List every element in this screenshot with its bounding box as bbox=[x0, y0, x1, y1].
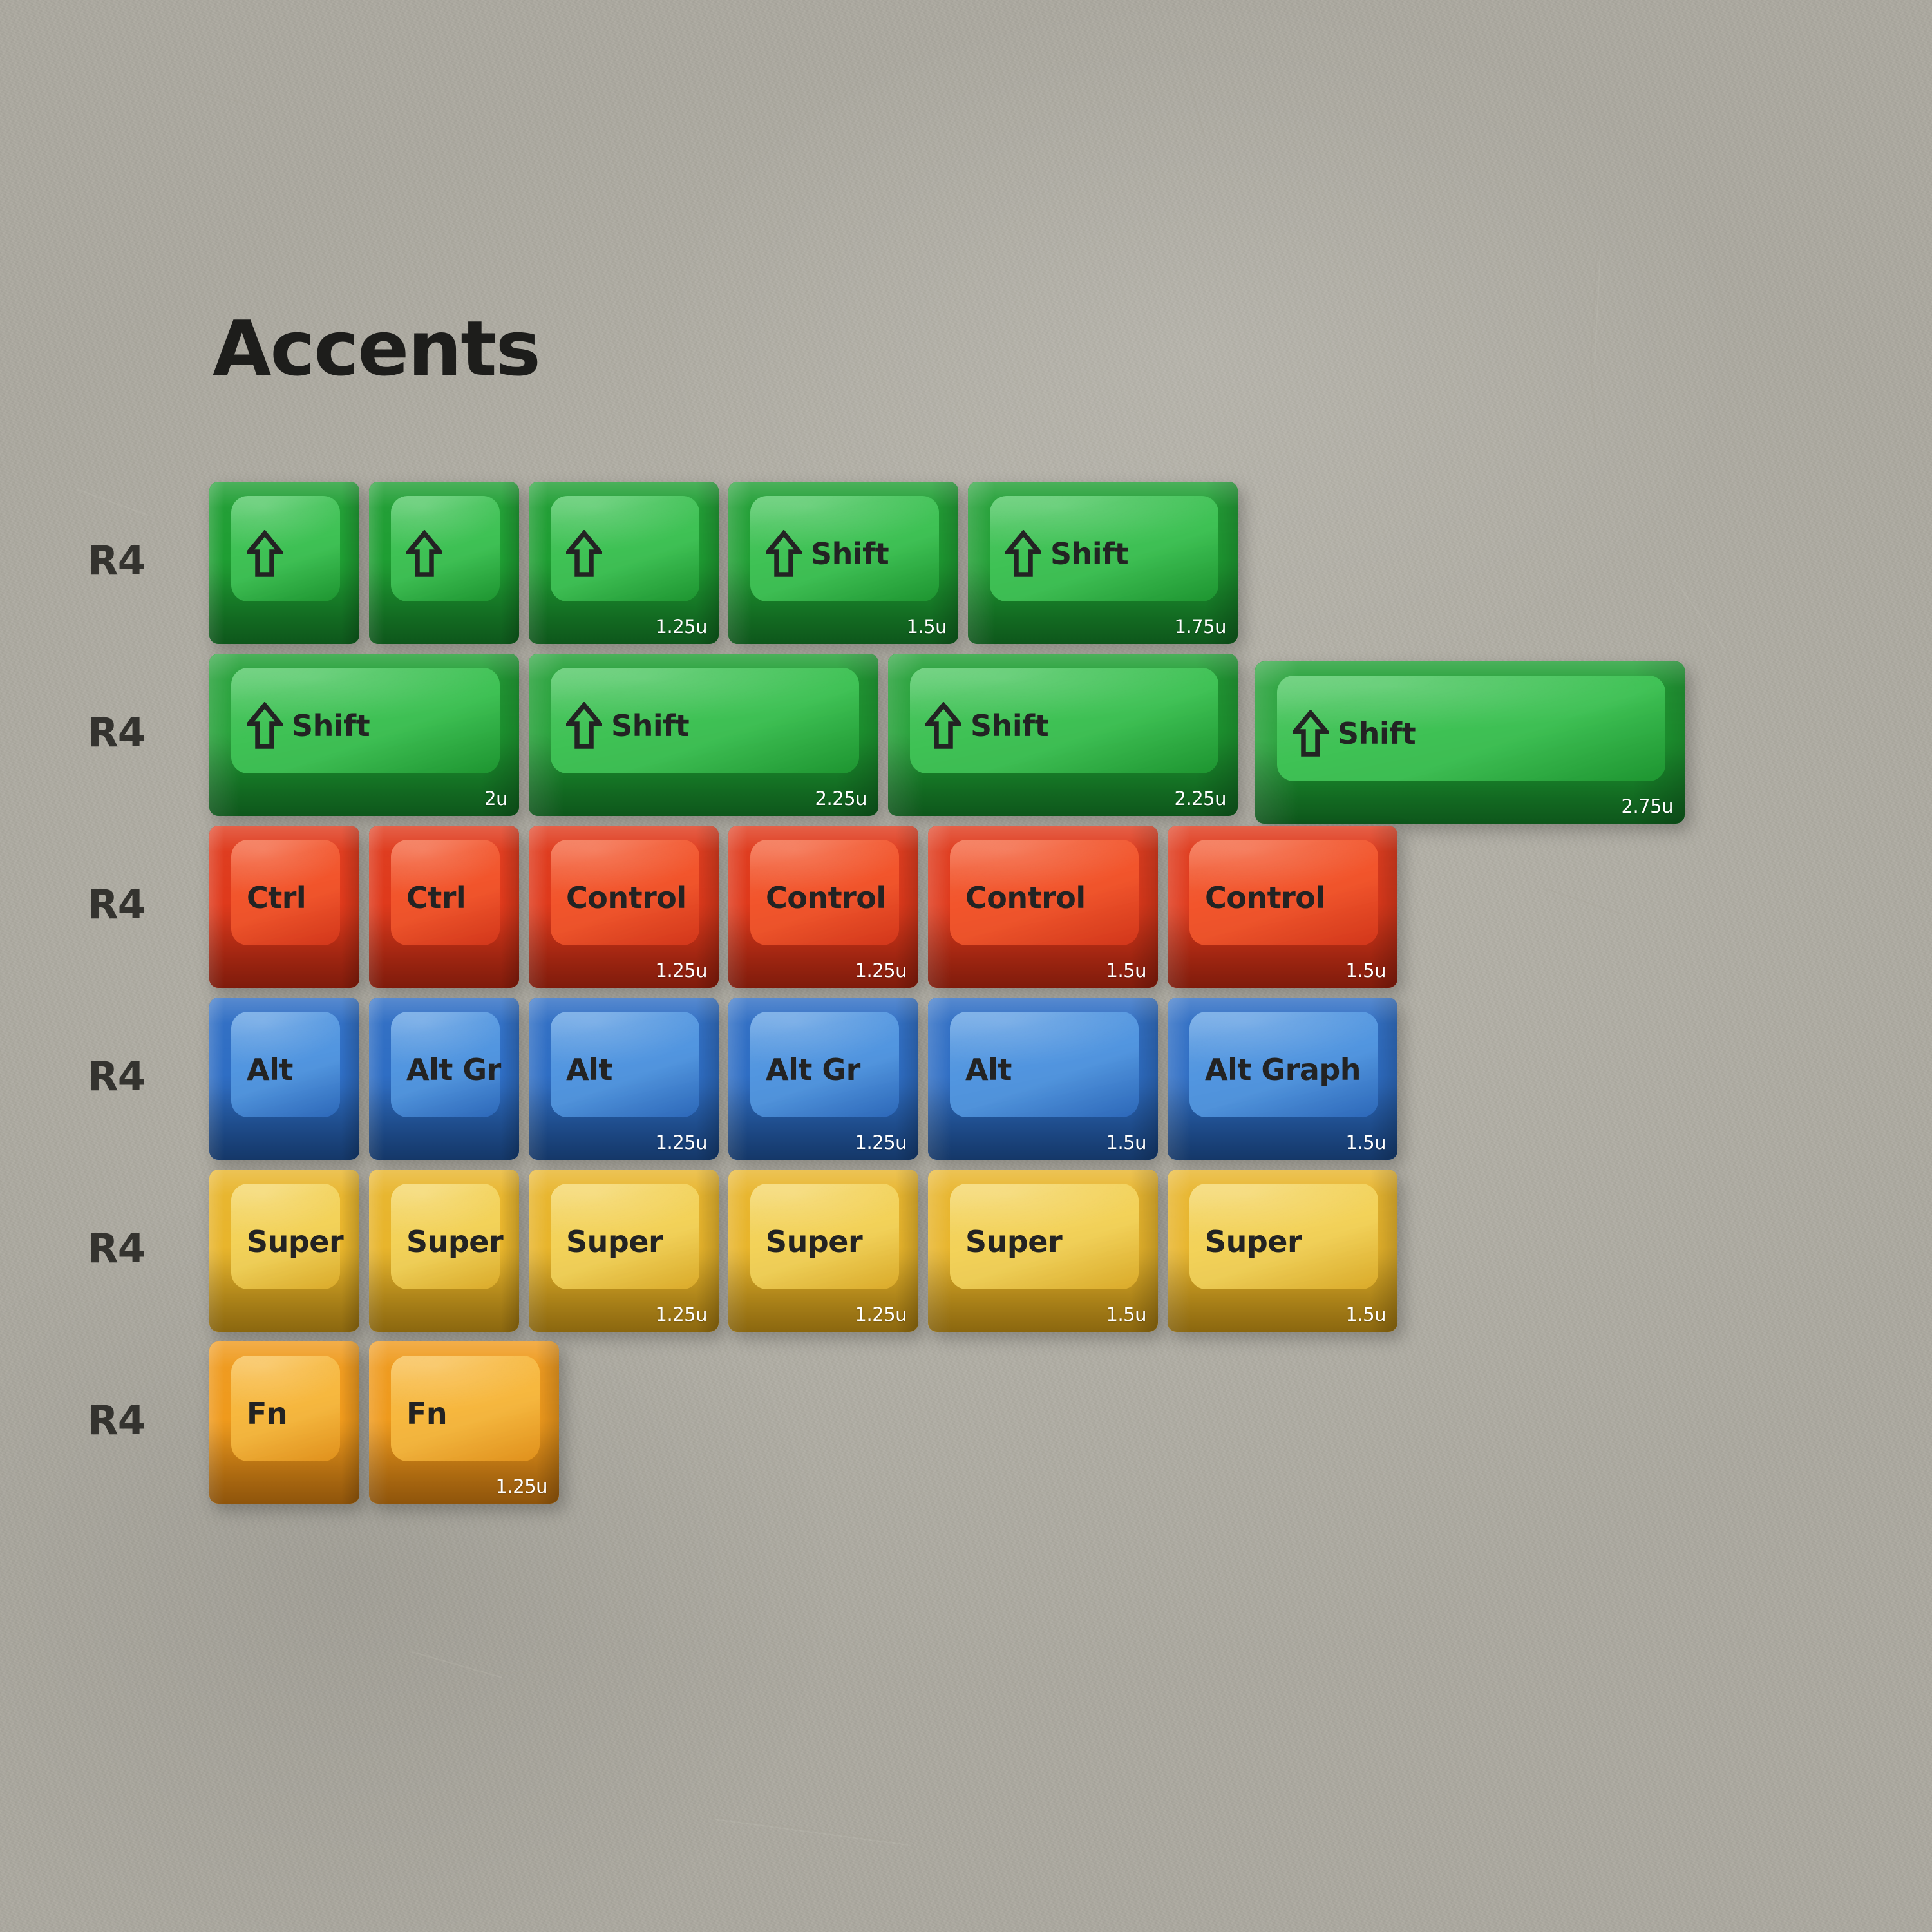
keycap-legend: Super bbox=[406, 1217, 503, 1266]
keycap-red-ctrl-1u[interactable]: Ctrl bbox=[369, 826, 519, 988]
keycap-legend: Shift bbox=[766, 529, 889, 578]
keycap-size-tag: 2u bbox=[484, 788, 507, 810]
keycap-size-tag: 1.25u bbox=[855, 960, 907, 981]
keycap-yellow-super-1.5u[interactable]: Super1.5u bbox=[1168, 1170, 1397, 1332]
keycap-green-shift-arrow-1u[interactable] bbox=[209, 482, 359, 644]
keycap-size-tag: 1.25u bbox=[656, 616, 707, 638]
keycap-legend: Control bbox=[566, 873, 687, 922]
keycap-green-shift-1.75u[interactable]: Shift1.75u bbox=[968, 482, 1238, 644]
keycap-size-tag: 1.75u bbox=[1175, 616, 1226, 638]
keycap-legend-text: Alt Gr bbox=[766, 1052, 860, 1087]
keycap-legend-text: Super bbox=[1205, 1224, 1302, 1259]
keycap-green-shift-2.25u[interactable]: Shift2.25u bbox=[888, 654, 1238, 816]
keycap-legend: Alt Gr bbox=[406, 1045, 501, 1094]
keycap-legend-text: Control bbox=[965, 880, 1086, 915]
keycap-red-ctrl-1u[interactable]: Ctrl bbox=[209, 826, 359, 988]
shift-arrow-icon bbox=[925, 702, 961, 750]
keycap-orange-fn-1.25u[interactable]: Fn1.25u bbox=[369, 1341, 559, 1504]
keycap-blue-alt-1u[interactable]: Alt bbox=[209, 998, 359, 1160]
keycap-legend-text: Ctrl bbox=[247, 880, 306, 915]
keycap-legend bbox=[566, 529, 611, 578]
keycap-size-tag: 1.25u bbox=[496, 1475, 547, 1497]
keycap-legend: Shift bbox=[247, 701, 370, 750]
keycap-legend-text: Super bbox=[406, 1224, 503, 1259]
keycap-size-tag: 2.75u bbox=[1622, 795, 1673, 817]
keycap-legend-text: Fn bbox=[406, 1396, 447, 1431]
keycap-size-tag: 1.5u bbox=[1346, 1132, 1387, 1153]
row-label-r4-4: R4 bbox=[88, 1225, 204, 1272]
keycap-legend: Super bbox=[566, 1217, 663, 1266]
keycap-legend: Ctrl bbox=[406, 873, 466, 922]
keycap-legend-text: Shift bbox=[971, 708, 1048, 743]
keycap-yellow-super-1.25u[interactable]: Super1.25u bbox=[529, 1170, 719, 1332]
keycap-legend: Fn bbox=[406, 1389, 447, 1438]
keycap-blue-alt-graph-1.5u[interactable]: Alt Graph1.5u bbox=[1168, 998, 1397, 1160]
keycap-legend-text: Shift bbox=[1050, 536, 1128, 571]
keycap-legend: Super bbox=[965, 1217, 1062, 1266]
keycap-legend: Alt bbox=[965, 1045, 1012, 1094]
keycap-legend: Control bbox=[965, 873, 1086, 922]
keycap-size-tag: 1.25u bbox=[656, 960, 707, 981]
keycap-size-tag: 1.5u bbox=[1106, 1132, 1147, 1153]
keycap-legend: Super bbox=[247, 1217, 343, 1266]
row-label-r4-5: R4 bbox=[88, 1397, 204, 1444]
row-label-r4-2: R4 bbox=[88, 881, 204, 928]
keycap-legend bbox=[247, 529, 292, 578]
keycap-legend: Alt bbox=[566, 1045, 612, 1094]
keycap-legend: Super bbox=[766, 1217, 862, 1266]
keycap-legend: Shift bbox=[566, 701, 689, 750]
keycap-size-tag: 1.5u bbox=[907, 616, 947, 638]
keycap-legend-text: Control bbox=[1205, 880, 1325, 915]
keycap-yellow-super-1u[interactable]: Super bbox=[209, 1170, 359, 1332]
keycap-size-tag: 1.5u bbox=[1346, 1303, 1387, 1325]
keycap-green-shift-2u[interactable]: Shift2u bbox=[209, 654, 519, 816]
row-label-r4-3: R4 bbox=[88, 1053, 204, 1100]
keycap-legend: Alt bbox=[247, 1045, 293, 1094]
keycap-legend: Control bbox=[766, 873, 886, 922]
keycap-legend-text: Shift bbox=[1338, 716, 1416, 751]
row-label-r4-1: R4 bbox=[88, 709, 204, 756]
shift-arrow-icon bbox=[247, 530, 283, 578]
keycap-size-tag: 1.5u bbox=[1106, 1303, 1147, 1325]
shift-arrow-icon bbox=[566, 702, 602, 750]
keycap-legend-text: Shift bbox=[611, 708, 689, 743]
keycap-legend: Shift bbox=[1005, 529, 1128, 578]
keycap-size-tag: 2.25u bbox=[815, 788, 867, 810]
keycap-legend-text: Control bbox=[766, 880, 886, 915]
keycap-legend: Super bbox=[1205, 1217, 1302, 1266]
keycap-green-shift-arrow-1.25u[interactable]: 1.25u bbox=[529, 482, 719, 644]
keycap-legend-text: Alt bbox=[965, 1052, 1012, 1087]
keycap-blue-alt-gr-1.25u[interactable]: Alt Gr1.25u bbox=[728, 998, 918, 1160]
keycap-red-control-1.5u[interactable]: Control1.5u bbox=[1168, 826, 1397, 988]
shift-arrow-icon bbox=[406, 530, 442, 578]
shift-arrow-icon bbox=[1005, 530, 1041, 578]
keycap-legend-text: Super bbox=[766, 1224, 862, 1259]
keycap-yellow-super-1.25u[interactable]: Super1.25u bbox=[728, 1170, 918, 1332]
keycap-legend: Alt Graph bbox=[1205, 1045, 1361, 1094]
keycap-legend: Alt Gr bbox=[766, 1045, 860, 1094]
keycap-red-control-1.25u[interactable]: Control1.25u bbox=[529, 826, 719, 988]
keycap-legend-text: Super bbox=[965, 1224, 1062, 1259]
page-title: Accents bbox=[213, 304, 540, 393]
keycap-legend: Fn bbox=[247, 1389, 287, 1438]
keycap-red-control-1.5u[interactable]: Control1.5u bbox=[928, 826, 1158, 988]
keycap-green-shift-arrow-1u[interactable] bbox=[369, 482, 519, 644]
keycap-legend: Shift bbox=[1293, 709, 1416, 758]
keycap-red-control-1.25u[interactable]: Control1.25u bbox=[728, 826, 918, 988]
row-label-r4-0: R4 bbox=[88, 537, 204, 584]
keycap-legend-text: Ctrl bbox=[406, 880, 466, 915]
keycap-green-shift-2.75u[interactable]: Shift2.75u bbox=[1255, 661, 1685, 824]
keycap-legend bbox=[406, 529, 451, 578]
keycap-size-tag: 1.5u bbox=[1346, 960, 1387, 981]
keycap-size-tag: 1.25u bbox=[656, 1303, 707, 1325]
keycap-legend: Ctrl bbox=[247, 873, 306, 922]
keycap-legend-text: Alt bbox=[247, 1052, 293, 1087]
keycap-legend-text: Shift bbox=[811, 536, 889, 571]
keycap-legend-text: Alt Gr bbox=[406, 1052, 501, 1087]
shift-arrow-icon bbox=[247, 702, 283, 750]
keycap-size-tag: 1.25u bbox=[855, 1132, 907, 1153]
keycap-legend: Shift bbox=[925, 701, 1048, 750]
shift-arrow-icon bbox=[1293, 710, 1329, 757]
shift-arrow-icon bbox=[766, 530, 802, 578]
keycap-size-tag: 1.25u bbox=[855, 1303, 907, 1325]
shift-arrow-icon bbox=[566, 530, 602, 578]
keycap-green-shift-1.5u[interactable]: Shift1.5u bbox=[728, 482, 958, 644]
keycap-blue-alt-1.25u[interactable]: Alt1.25u bbox=[529, 998, 719, 1160]
keycap-blue-alt-gr-1u[interactable]: Alt Gr bbox=[369, 998, 519, 1160]
keycap-legend-text: Super bbox=[247, 1224, 343, 1259]
keycap-legend-text: Alt Graph bbox=[1205, 1052, 1361, 1087]
keycap-size-tag: 1.25u bbox=[656, 1132, 707, 1153]
keycap-size-tag: 1.5u bbox=[1106, 960, 1147, 981]
keycap-legend-text: Control bbox=[566, 880, 687, 915]
keycap-green-shift-2.25u[interactable]: Shift2.25u bbox=[529, 654, 878, 816]
keycap-orange-fn-1u[interactable]: Fn bbox=[209, 1341, 359, 1504]
keycap-yellow-super-1u[interactable]: Super bbox=[369, 1170, 519, 1332]
keycap-legend-text: Alt bbox=[566, 1052, 612, 1087]
keycap-legend-text: Super bbox=[566, 1224, 663, 1259]
keycap-blue-alt-1.5u[interactable]: Alt1.5u bbox=[928, 998, 1158, 1160]
keycap-legend-text: Shift bbox=[292, 708, 370, 743]
keycap-legend: Control bbox=[1205, 873, 1325, 922]
keycap-size-tag: 2.25u bbox=[1175, 788, 1226, 810]
keycap-yellow-super-1.5u[interactable]: Super1.5u bbox=[928, 1170, 1158, 1332]
keycap-legend-text: Fn bbox=[247, 1396, 287, 1431]
